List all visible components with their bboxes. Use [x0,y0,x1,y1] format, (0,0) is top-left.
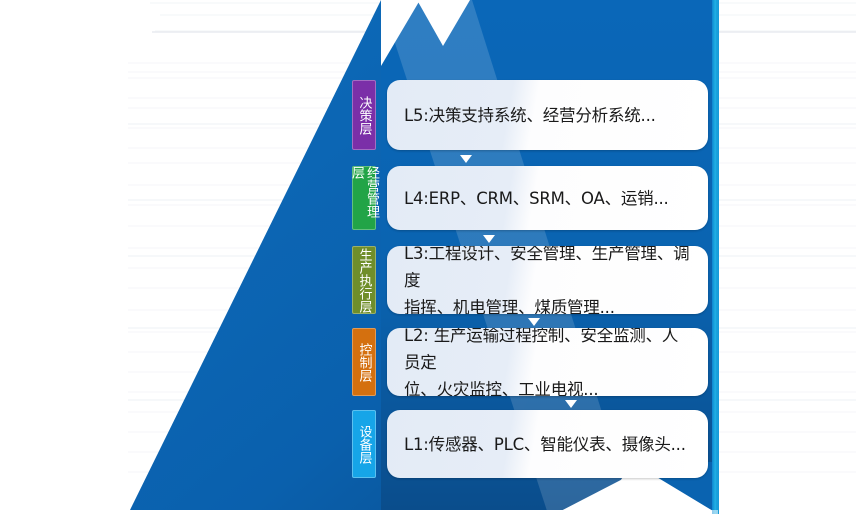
level-row-l2[interactable]: 控制层 L2: 生产运输过程控制、安全监测、人员定 位、火灾监控、工业电视... [352,328,708,396]
level-badge-l3: 生产执行层 [352,246,376,314]
level-card-l4[interactable]: L4:ERP、CRM、SRM、OA、运销... [387,166,708,230]
level-badge-l5: 决策层 [352,80,376,150]
level-divider-tick-2 [483,235,495,243]
pyramid-levels: 决策层 L5:决策支持系统、经营分析系统... 经营管理层 L4:ERP、CRM… [0,0,856,514]
level-card-l1[interactable]: L1:传感器、PLC、智能仪表、摄像头... [387,410,708,478]
level-card-text-l3: L3:工程设计、安全管理、生产管理、调度 指挥、机电管理、煤质管理... [387,246,708,314]
level-card-l3[interactable]: L3:工程设计、安全管理、生产管理、调度 指挥、机电管理、煤质管理... [387,246,708,314]
diagram-canvas: 决策层 L5:决策支持系统、经营分析系统... 经营管理层 L4:ERP、CRM… [0,0,856,514]
level-card-text-l4: L4:ERP、CRM、SRM、OA、运销... [387,185,683,212]
level-badge-l4: 经营管理层 [352,166,376,230]
level-divider-tick-1 [460,155,472,163]
level-row-l1[interactable]: 设备层 L1:传感器、PLC、智能仪表、摄像头... [352,410,708,478]
level-divider-tick-4 [565,400,577,408]
level-row-l4[interactable]: 经营管理层 L4:ERP、CRM、SRM、OA、运销... [352,166,708,230]
level-badge-l1: 设备层 [352,410,376,478]
level-card-text-l5: L5:决策支持系统、经营分析系统... [387,102,670,129]
level-card-text-l2: L2: 生产运输过程控制、安全监测、人员定 位、火灾监控、工业电视... [387,328,708,396]
level-card-l5[interactable]: L5:决策支持系统、经营分析系统... [387,80,708,150]
level-divider-tick-3 [528,318,540,326]
level-row-l3[interactable]: 生产执行层 L3:工程设计、安全管理、生产管理、调度 指挥、机电管理、煤质管理.… [352,246,708,314]
level-card-l2[interactable]: L2: 生产运输过程控制、安全监测、人员定 位、火灾监控、工业电视... [387,328,708,396]
level-row-l5[interactable]: 决策层 L5:决策支持系统、经营分析系统... [352,80,708,150]
level-badge-l2: 控制层 [352,328,376,396]
level-card-text-l1: L1:传感器、PLC、智能仪表、摄像头... [387,431,700,458]
